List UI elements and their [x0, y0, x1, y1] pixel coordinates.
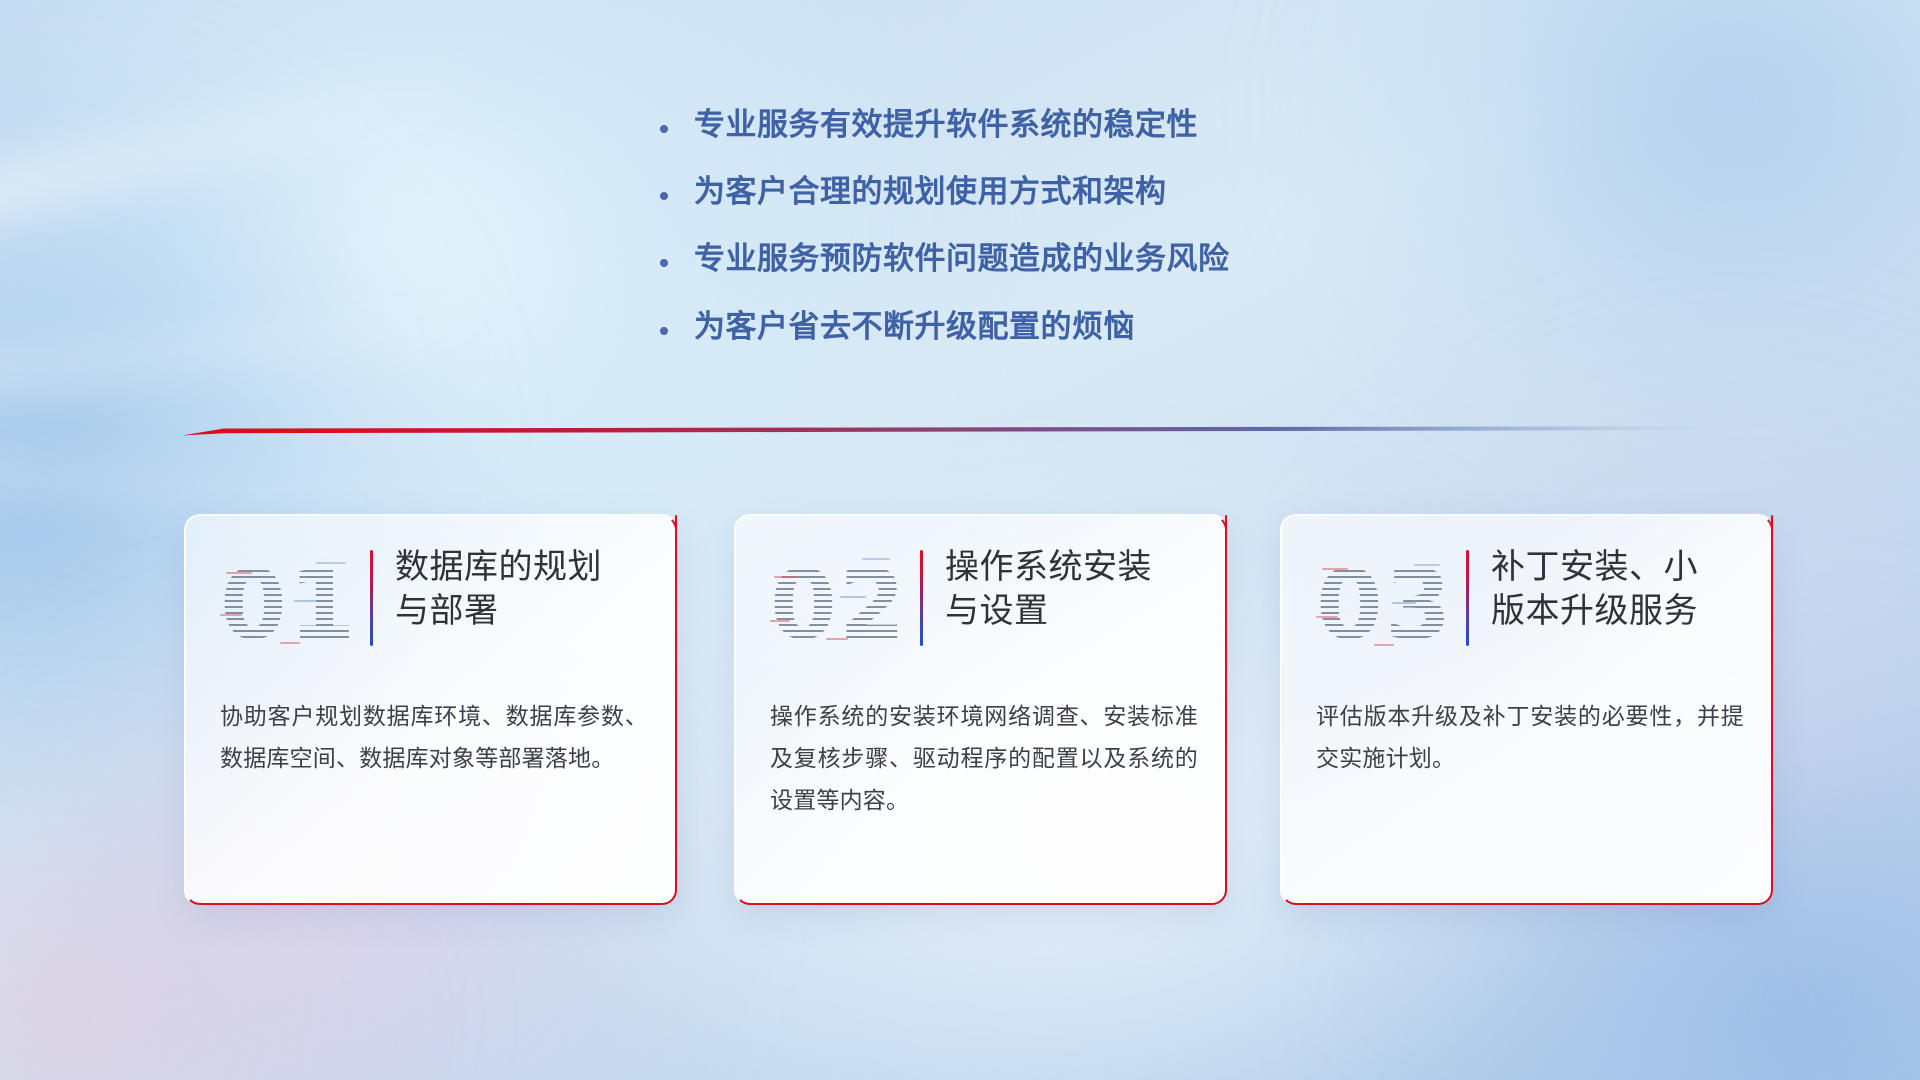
card-number: 01	[220, 546, 370, 664]
number-tick-accent	[1414, 564, 1440, 566]
card-title: 操作系统安装 与设置	[945, 542, 1204, 633]
list-item: 为客户省去不断升级配置的烦恼	[660, 308, 1420, 345]
card-number-text: 03	[1316, 546, 1466, 664]
card-number: 03	[1316, 546, 1466, 664]
number-tick-accent	[770, 620, 790, 622]
service-card[interactable]: 02 操作系统安装 与设置 操作系统的安装环境网络调查、安装标准及复核步骤、驱动…	[736, 516, 1226, 904]
card-title-line-2: 与设置	[945, 590, 1204, 634]
number-tick-accent	[826, 638, 848, 640]
card-accent-bar	[370, 550, 373, 646]
card-body-text: 操作系统的安装环境网络调查、安装标准及复核步骤、驱动程序的配置以及系统的设置等内…	[770, 696, 1198, 822]
bullet-dot-icon	[660, 178, 694, 204]
number-tick-accent	[280, 642, 300, 644]
bullet-dot-icon	[660, 313, 694, 339]
card-header: 01 数据库的规划 与部署	[220, 542, 654, 662]
card-title-line-1: 补丁安装、小	[1491, 546, 1750, 590]
benefits-bullet-list: 专业服务有效提升软件系统的稳定性 为客户合理的规划使用方式和架构 专业服务预防软…	[660, 106, 1420, 375]
card-accent-bar	[920, 550, 923, 646]
bullet-text: 为客户合理的规划使用方式和架构	[694, 173, 1167, 210]
number-tick-accent	[226, 572, 252, 574]
list-item: 专业服务预防软件问题造成的业务风险	[660, 240, 1420, 277]
card-number: 02	[770, 546, 920, 664]
number-tick-accent	[1322, 568, 1348, 570]
card-header: 03 补丁安装、小 版本升级服务	[1316, 542, 1750, 662]
section-divider	[182, 418, 1738, 444]
number-tick-accent	[1316, 616, 1338, 618]
service-card[interactable]: 03 补丁安装、小 版本升级服务 评估版本升级及补丁安装的必要性，并提交实施计划…	[1282, 516, 1772, 904]
list-item: 专业服务有效提升软件系统的稳定性	[660, 106, 1420, 143]
bullet-dot-icon	[660, 245, 694, 271]
number-tick-accent	[220, 614, 242, 616]
bullet-text: 专业服务预防软件问题造成的业务风险	[694, 240, 1230, 277]
card-number-text: 02	[770, 546, 920, 664]
card-body-text: 评估版本升级及补丁安装的必要性，并提交实施计划。	[1316, 696, 1744, 780]
card-title-line-1: 操作系统安装	[945, 546, 1204, 590]
number-tick-accent	[316, 562, 346, 564]
number-tick-accent	[1374, 644, 1394, 646]
card-header: 02 操作系统安装 与设置	[770, 542, 1204, 662]
card-title-line-2: 版本升级服务	[1491, 590, 1750, 634]
service-card[interactable]: 01 数据库的规划 与部署 协助客户规划数据库环境、数据库参数、数据库空间、数据…	[186, 516, 676, 904]
card-title-line-1: 数据库的规划	[395, 546, 654, 590]
number-tick-accent	[1392, 602, 1416, 604]
list-item: 为客户合理的规划使用方式和架构	[660, 173, 1420, 210]
number-tick-accent	[862, 558, 890, 560]
card-number-text: 01	[220, 546, 370, 664]
card-title: 数据库的规划 与部署	[395, 542, 654, 633]
card-title-line-2: 与部署	[395, 590, 654, 634]
service-card-list: 01 数据库的规划 与部署 协助客户规划数据库环境、数据库参数、数据库空间、数据…	[0, 516, 1920, 926]
card-body-text: 协助客户规划数据库环境、数据库参数、数据库空间、数据库对象等部署落地。	[220, 696, 648, 780]
card-title: 补丁安装、小 版本升级服务	[1491, 542, 1750, 633]
divider-tapered-line	[182, 424, 1738, 438]
number-tick-accent	[294, 600, 318, 602]
bullet-text: 专业服务有效提升软件系统的稳定性	[694, 106, 1198, 143]
bullet-dot-icon	[660, 111, 694, 137]
card-accent-bar	[1466, 550, 1469, 646]
number-tick-accent	[774, 576, 798, 578]
number-tick-accent	[840, 596, 866, 598]
bullet-text: 为客户省去不断升级配置的烦恼	[694, 308, 1135, 345]
